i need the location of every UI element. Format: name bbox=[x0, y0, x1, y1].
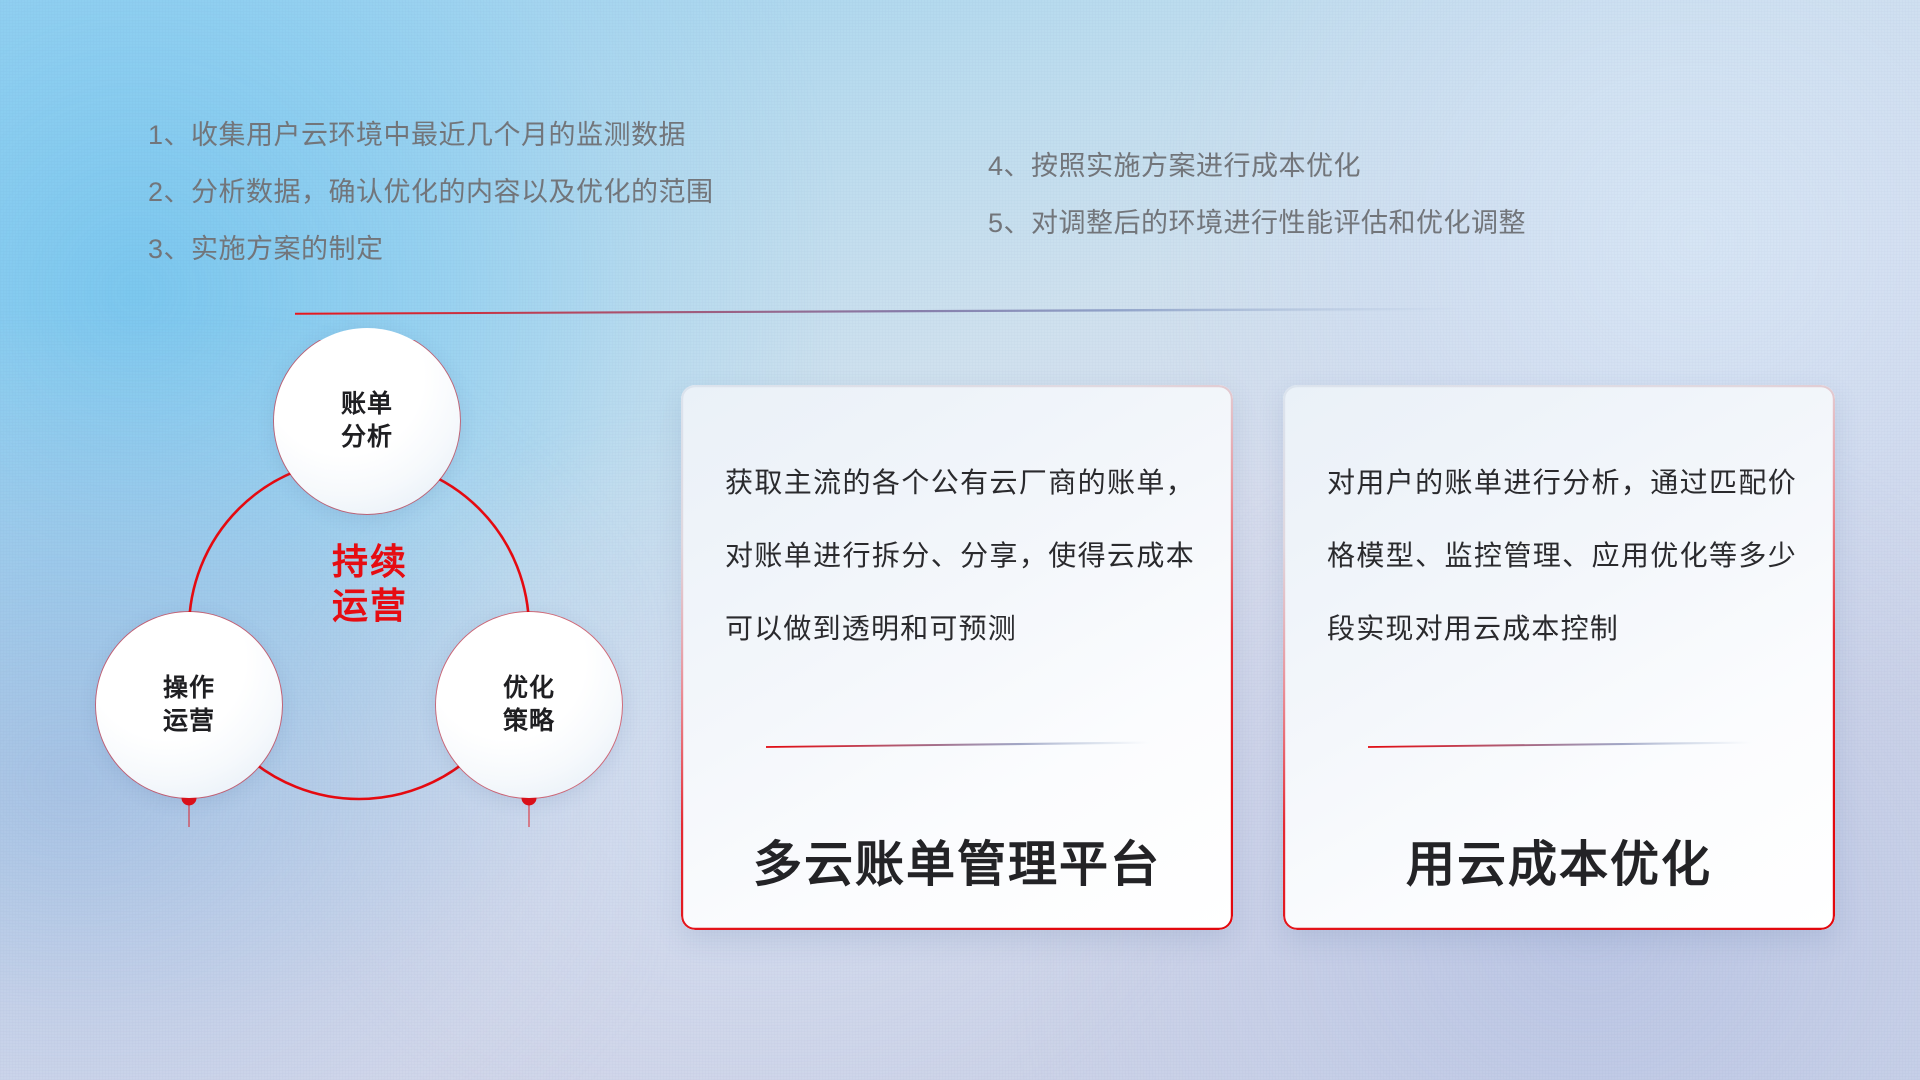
card-title: 多云账单管理平台 bbox=[681, 825, 1233, 896]
card-divider-rule bbox=[1320, 740, 1800, 748]
diagram-center-label-line2: 运营 bbox=[286, 584, 454, 628]
steps-list-left: 1、收集用户云环境中最近几个月的监测数据 2、分析数据，确认优化的内容以及优化的… bbox=[148, 122, 714, 293]
card-title: 用云成本优化 bbox=[1283, 825, 1835, 896]
diagram-node-operations[interactable]: 操作 运营 bbox=[96, 612, 282, 798]
diagram-center-label-line1: 持续 bbox=[286, 540, 454, 584]
diagram-node-label-line1: 操作 bbox=[163, 672, 215, 705]
diagram-node-label-line2: 策略 bbox=[503, 705, 555, 738]
step-item-3: 3、实施方案的制定 bbox=[148, 236, 714, 293]
diagram-center-label: 持续 运营 bbox=[286, 540, 454, 628]
card-divider-rule bbox=[718, 740, 1198, 748]
diagram-node-label-line1: 优化 bbox=[503, 672, 555, 705]
diagram-node-optimization-policy[interactable]: 优化 策略 bbox=[436, 612, 622, 798]
diagram-node-label-line1: 账单 bbox=[341, 388, 393, 421]
card-body-text: 获取主流的各个公有云厂商的账单，对账单进行拆分、分享，使得云成本可以做到透明和可… bbox=[725, 447, 1195, 665]
card-multi-cloud-billing-platform[interactable]: 获取主流的各个公有云厂商的账单，对账单进行拆分、分享，使得云成本可以做到透明和可… bbox=[681, 385, 1233, 930]
step-item-4: 4、按照实施方案进行成本优化 bbox=[988, 153, 1526, 210]
diagram-node-label-line2: 分析 bbox=[341, 421, 393, 454]
step-item-5: 5、对调整后的环境进行性能评估和优化调整 bbox=[988, 210, 1526, 267]
step-item-1: 1、收集用户云环境中最近几个月的监测数据 bbox=[148, 122, 714, 179]
step-item-2: 2、分析数据，确认优化的内容以及优化的范围 bbox=[148, 179, 714, 236]
card-cloud-cost-optimization[interactable]: 对用户的账单进行分析，通过匹配价格模型、监控管理、应用优化等多少段实现对用云成本… bbox=[1283, 385, 1835, 930]
card-body-text: 对用户的账单进行分析，通过匹配价格模型、监控管理、应用优化等多少段实现对用云成本… bbox=[1327, 447, 1797, 665]
steps-list-right: 4、按照实施方案进行成本优化 5、对调整后的环境进行性能评估和优化调整 bbox=[988, 153, 1526, 267]
diagram-node-label-line2: 运营 bbox=[163, 705, 215, 738]
top-divider-rule bbox=[100, 306, 1660, 315]
diagram-node-bill-analysis[interactable]: 账单 分析 bbox=[274, 328, 460, 514]
continuous-operation-diagram: 账单 分析 操作 运营 优化 策略 持续 运营 bbox=[88, 340, 668, 960]
